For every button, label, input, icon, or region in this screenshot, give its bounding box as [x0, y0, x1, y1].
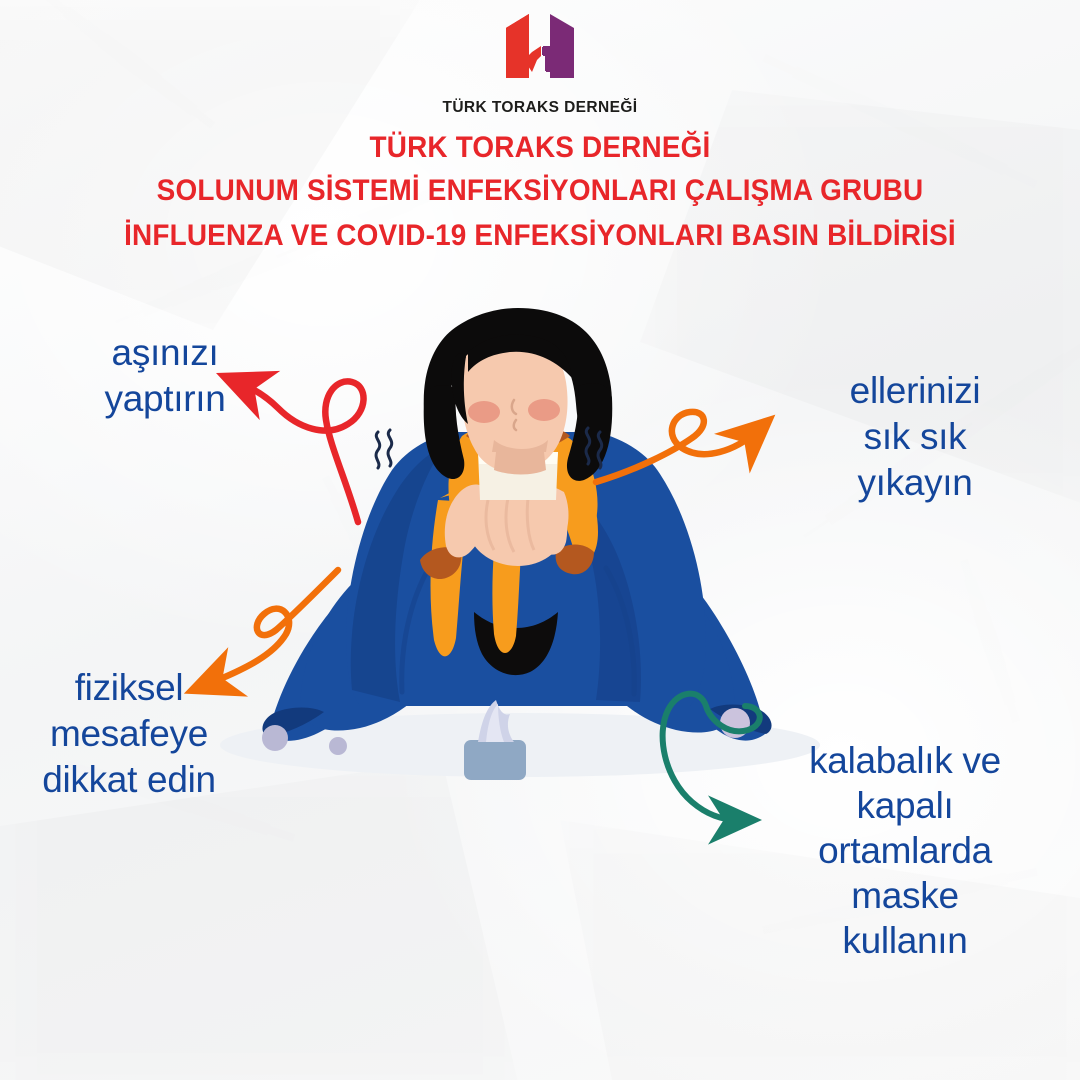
headline-line-3: İNFLUENZA VE COVID-19 ENFEKSİYONLARI BAS… [38, 213, 1042, 258]
note-mask-line-1: kalabalık ve [760, 738, 1050, 783]
note-hands-line-3: yıkayın [790, 460, 1040, 506]
note-vaccine-line-2: yaptırın [60, 376, 270, 422]
note-hands: ellerinizi sık sık yıkayın [790, 368, 1040, 506]
logo-block: TÜRK TORAKS DERNEĞİ [0, 12, 1080, 117]
note-mask-line-4: maske [760, 873, 1050, 918]
note-distance-line-2: mesafeye [14, 711, 244, 757]
headline-line-2: SOLUNUM SİSTEMİ ENFEKSİYONLARI ÇALIŞMA G… [38, 168, 1042, 213]
note-hands-line-1: ellerinizi [790, 368, 1040, 414]
note-distance-line-3: dikkat edin [14, 757, 244, 803]
note-vaccine-line-1: aşınızı [60, 330, 270, 376]
turk-toraks-dernegi-logo-icon [476, 12, 604, 96]
headline-block: TÜRK TORAKS DERNEĞİ SOLUNUM SİSTEMİ ENFE… [0, 128, 1080, 258]
logo-wordmark: TÜRK TORAKS DERNEĞİ [442, 99, 637, 117]
note-vaccine: aşınızı yaptırın [60, 330, 270, 422]
note-mask-line-2: kapalı [760, 783, 1050, 828]
note-mask: kalabalık ve kapalı ortamlarda maske kul… [760, 738, 1050, 963]
poster-canvas: TÜRK TORAKS DERNEĞİ TÜRK TORAKS DERNEĞİ … [0, 0, 1080, 1080]
note-hands-line-2: sık sık [790, 414, 1040, 460]
headline-line-1: TÜRK TORAKS DERNEĞİ [38, 128, 1042, 168]
note-distance-line-1: fiziksel [14, 665, 244, 711]
note-mask-line-5: kullanın [760, 918, 1050, 963]
note-mask-line-3: ortamlarda [760, 828, 1050, 873]
note-distance: fiziksel mesafeye dikkat edin [14, 665, 244, 803]
